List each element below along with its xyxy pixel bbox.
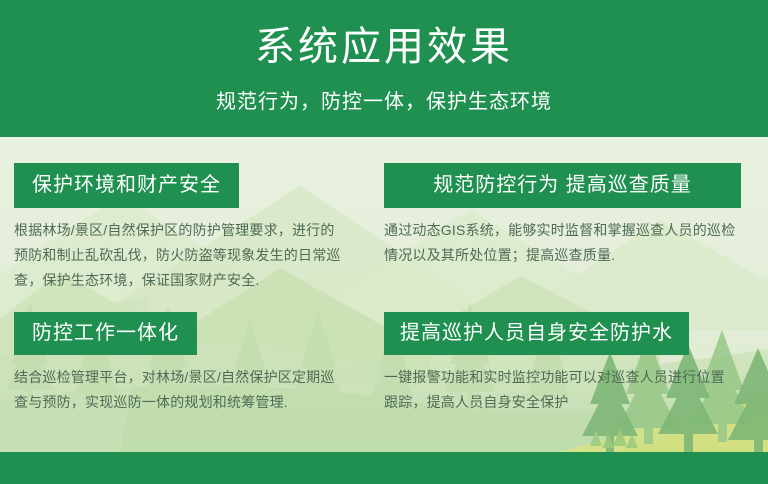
card-text-line: 通过动态GIS系统，能够实时监督和掌握巡查人员的巡检 xyxy=(384,218,741,243)
card-text-line: 一键报警功能和实时监控功能可以对巡查人员进行位置 xyxy=(384,365,741,390)
card-description: 一键报警功能和实时监控功能可以对巡查人员进行位置 跟踪，提高人员自身安全保护 xyxy=(384,365,741,415)
card-text-line: 结合巡检管理平台，对林场/景区/自然保护区定期巡 xyxy=(14,365,364,390)
card-title-tag: 防控工作一体化 xyxy=(14,312,197,355)
page-title: 系统应用效果 xyxy=(0,22,768,72)
card-description: 根据林场/景区/自然保护区的防护管理要求，进行的 预防和制止乱砍乱伐，防火防盗等… xyxy=(14,218,364,293)
header-banner: 系统应用效果 规范行为，防控一体，保护生态环境 xyxy=(0,0,768,137)
feature-card-personnel-safety: 提高巡护人员自身安全防护水 一键报警功能和实时监控功能可以对巡查人员进行位置 跟… xyxy=(384,312,741,415)
card-text-line: 跟踪，提高人员自身安全保护 xyxy=(384,390,741,415)
card-text-line: 预防和制止乱砍乱伐，防火防盗等现象发生的日常巡 xyxy=(14,243,364,268)
card-text-line: 查与预防，实现巡防一体的规划和统筹管理. xyxy=(14,390,364,415)
card-title-tag: 规范防控行为 提高巡查质量 xyxy=(384,163,741,208)
card-text-line: 根据林场/景区/自然保护区的防护管理要求，进行的 xyxy=(14,218,364,243)
page-subtitle: 规范行为，防控一体，保护生态环境 xyxy=(0,88,768,116)
feature-card-patrol-quality: 规范防控行为 提高巡查质量 通过动态GIS系统，能够实时监督和掌握巡查人员的巡检… xyxy=(384,163,741,268)
card-title-tag: 保护环境和财产安全 xyxy=(14,163,239,208)
card-text-line: 查，保护生态环境，保证国家财产安全. xyxy=(14,268,364,293)
feature-card-integrated-prevention: 防控工作一体化 结合巡检管理平台，对林场/景区/自然保护区定期巡 查与预防，实现… xyxy=(14,312,364,415)
feature-card-environment-protection: 保护环境和财产安全 根据林场/景区/自然保护区的防护管理要求，进行的 预防和制止… xyxy=(14,163,364,293)
footer-band xyxy=(0,452,768,484)
poster-canvas: 系统应用效果 规范行为，防控一体，保护生态环境 保护环境和财产安全 根据林场/景… xyxy=(0,0,768,484)
card-title-tag: 提高巡护人员自身安全防护水 xyxy=(384,312,689,355)
card-description: 通过动态GIS系统，能够实时监督和掌握巡查人员的巡检 情况以及其所处位置；提高巡… xyxy=(384,218,741,268)
card-description: 结合巡检管理平台，对林场/景区/自然保护区定期巡 查与预防，实现巡防一体的规划和… xyxy=(14,365,364,415)
card-text-line: 情况以及其所处位置；提高巡查质量. xyxy=(384,243,741,268)
